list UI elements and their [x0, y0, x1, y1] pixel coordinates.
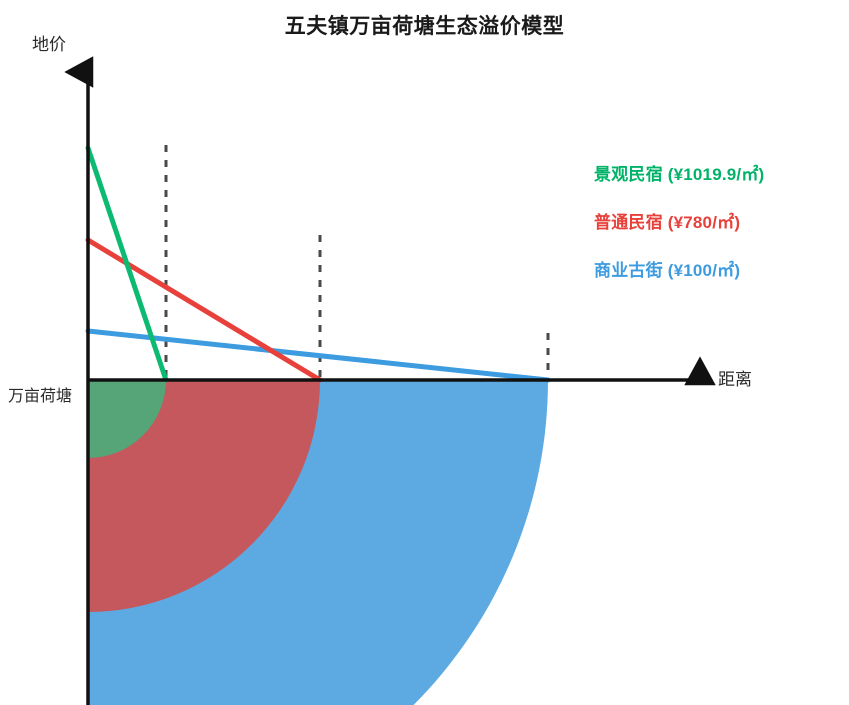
legend: 景观民宿 (¥1019.9/㎡) 普通民宿 (¥780/㎡) 商业古街 (¥10…	[594, 160, 844, 304]
legend-item-scenic-homestay: 景观民宿 (¥1019.9/㎡)	[594, 160, 844, 185]
premium-line-standard-homestay	[88, 240, 320, 380]
legend-item-commercial-street: 商业古街 (¥100/㎡)	[594, 256, 844, 281]
figure-canvas: 五夫镇万亩荷塘生态溢价模型	[0, 0, 849, 705]
origin-label: 万亩荷塘	[8, 382, 72, 406]
y-axis-label: 地价	[32, 30, 66, 55]
ecological-premium-model-chart	[0, 0, 849, 705]
x-axis-label: 距离	[718, 365, 752, 390]
legend-item-standard-homestay: 普通民宿 (¥780/㎡)	[594, 208, 844, 233]
premium-line-scenic-homestay	[88, 148, 166, 380]
decay-zone-group	[88, 380, 548, 705]
